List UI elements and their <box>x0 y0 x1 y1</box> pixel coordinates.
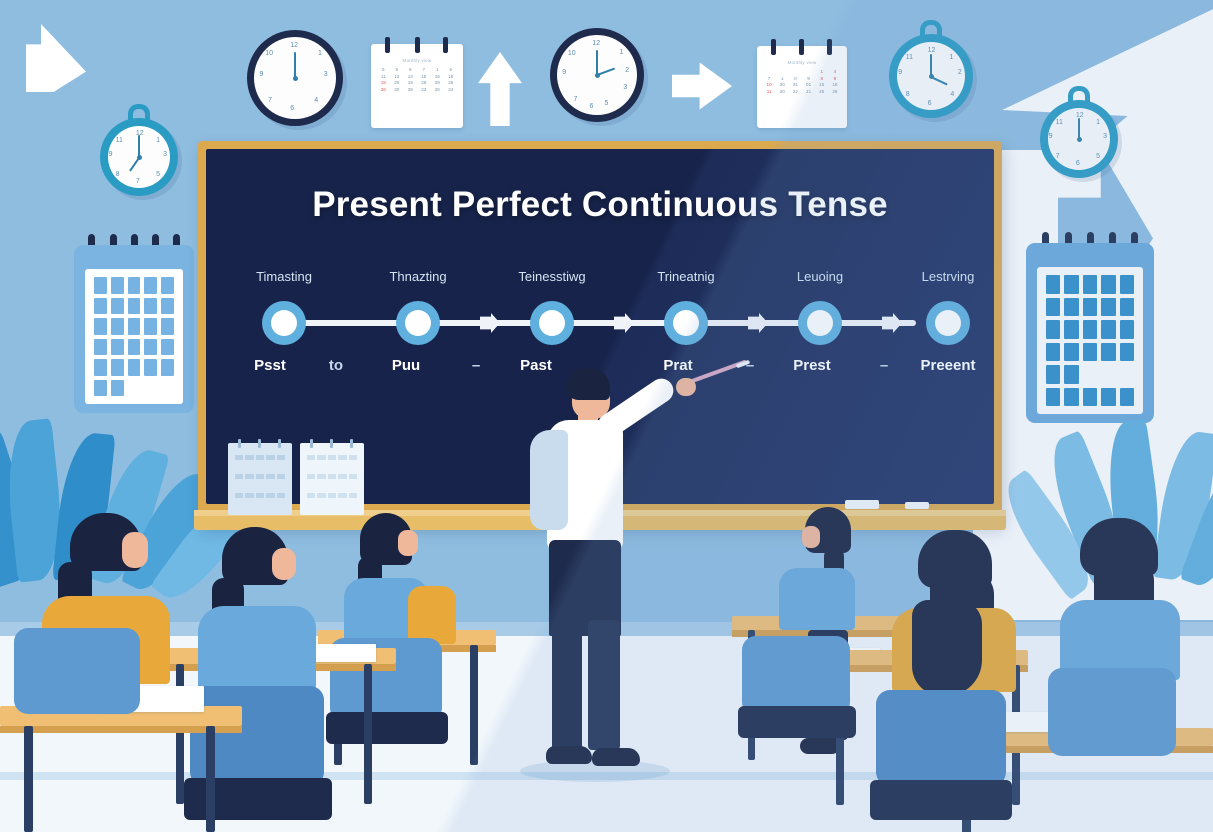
ledge-chart-card <box>228 443 292 515</box>
timeline-top-label: Timasting <box>256 269 312 284</box>
teacher-leg-left <box>552 620 582 750</box>
timeline-separator: – <box>880 357 888 374</box>
chair-front-left <box>14 628 140 714</box>
stopwatch-top-right-icon: 12 1 2 4 6 8 9 11 <box>889 34 973 118</box>
timeline-bottom-label: Preeent <box>920 357 975 374</box>
wall-clock-center-icon: 12 1 2 3 5 6 7 9 10 <box>550 28 644 122</box>
stopwatch-far-right-icon: 12 1 3 5 6 7 9 11 <box>1040 100 1118 178</box>
timeline-top-label: Leuoing <box>797 269 843 284</box>
timeline-top-label: Thnazting <box>389 269 446 284</box>
timeline-bottom-label: Prat <box>663 357 692 374</box>
timeline-top-label: Trineatnig <box>657 269 714 284</box>
student-head <box>122 532 148 568</box>
desk-leg <box>24 726 33 832</box>
chair-seat <box>326 712 448 744</box>
desk-leg <box>364 664 372 804</box>
classroom-scene: 12 1 3 4 6 7 9 10 Monthly view 556715 11… <box>0 0 1213 832</box>
timeline-top-label: Teinesstiwg <box>518 269 585 284</box>
teacher-hand <box>676 378 696 396</box>
desk-leg <box>470 645 478 765</box>
timeline-node[interactable] <box>530 301 574 345</box>
chair-front-right <box>1048 668 1176 756</box>
timeline-node[interactable] <box>262 301 306 345</box>
timeline-separator: to <box>329 357 343 374</box>
teacher-shoe-right <box>592 748 640 766</box>
desk-leg <box>176 664 184 804</box>
timeline-node[interactable] <box>798 301 842 345</box>
student-hair-front <box>912 600 982 696</box>
chair-seat <box>738 706 856 738</box>
ledge-calendar-card <box>300 443 364 515</box>
chair-back-right <box>742 636 850 716</box>
desk-paper <box>310 644 376 662</box>
teacher-leg-right <box>588 620 620 750</box>
timeline-bottom-label: Puu <box>392 357 420 374</box>
student-head <box>398 530 418 556</box>
chalk-eraser-icon <box>845 500 879 509</box>
timeline-node[interactable] <box>926 301 970 345</box>
timeline-arrow <box>480 313 500 333</box>
stopwatch-left-icon: 12 1 3 5 7 8 9 11 <box>100 118 178 196</box>
flat-calendar-right-icon <box>1026 243 1154 423</box>
timeline-top-label: Lestrving <box>922 269 975 284</box>
timeline-bottom-label: Prest <box>793 357 831 374</box>
teacher-hair <box>566 368 610 400</box>
paper-calendar-grid: 556715 111213151618 192019262925 2620282… <box>371 63 463 92</box>
student-top <box>779 568 855 630</box>
chalk-icon <box>905 502 929 509</box>
paper-calendar-left-icon: Monthly view 556715 111213151618 1920192… <box>371 44 463 128</box>
student-head <box>802 526 820 548</box>
student-top-accent <box>408 586 456 644</box>
timeline-node[interactable] <box>396 301 440 345</box>
timeline-node[interactable] <box>664 301 708 345</box>
paper-calendar-grid-2: 14 710989 103031011518 113022212526 <box>757 65 847 94</box>
student-shoe <box>800 738 840 754</box>
student-head <box>272 548 296 580</box>
timeline-bottom-label: Past <box>520 357 552 374</box>
student-top <box>198 606 316 690</box>
teacher-shirt-shade <box>530 430 568 530</box>
wall-clock-left-icon: 12 1 3 4 6 7 9 10 <box>247 30 343 126</box>
timeline-arrow <box>882 313 902 333</box>
board-title: Present Perfect Continuous Tense <box>206 185 994 225</box>
chair-mid-right <box>876 690 1006 786</box>
timeline-arrow <box>614 313 634 333</box>
timeline-arrow <box>748 313 768 333</box>
paper-calendar-right-icon: Monthly view 14 710989 103031011518 1130… <box>757 46 847 128</box>
timeline-separator: – <box>472 357 480 374</box>
desk-leg <box>206 726 215 832</box>
chair-seat <box>870 780 1012 820</box>
flat-calendar-left-icon <box>74 245 194 413</box>
timeline-bottom-label: Psst <box>254 357 286 374</box>
teacher-shoe-left <box>546 746 592 764</box>
